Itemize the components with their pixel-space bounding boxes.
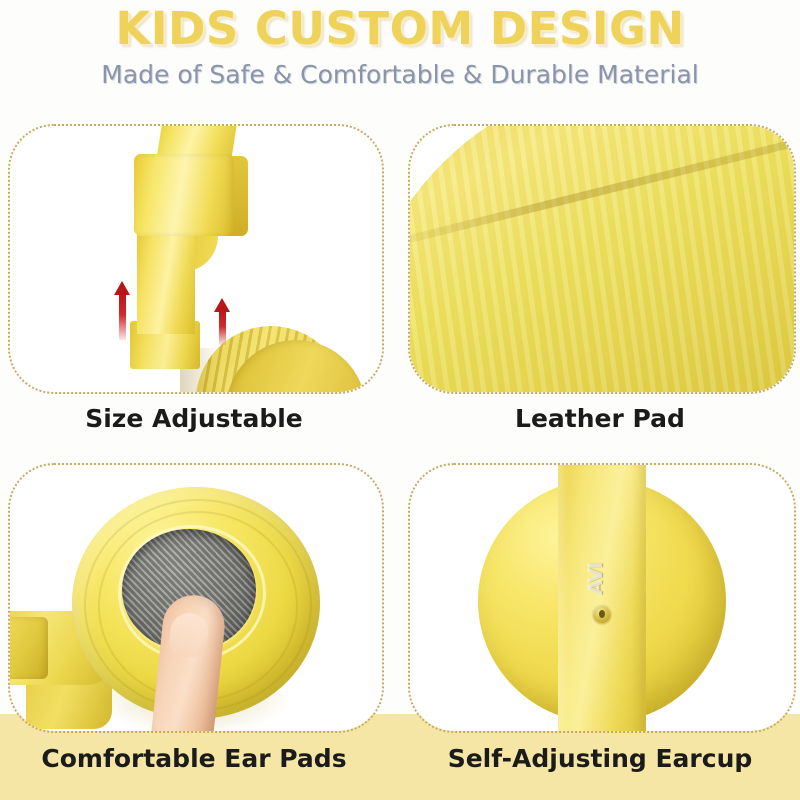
page-title: KIDS CUSTOM DESIGN	[0, 2, 800, 55]
earcup-hinge-block	[10, 617, 48, 679]
headband-closeup-illustration	[410, 126, 794, 392]
feature-panel-self-adjusting-earcup: AVI	[408, 463, 796, 733]
product-infographic: KIDS CUSTOM DESIGN Made of Safe & Comfor…	[0, 0, 800, 800]
headband-upper-pad	[410, 126, 794, 392]
caption-comfortable-ear-pads: Comfortable Ear Pads	[4, 744, 384, 773]
headband-stem-middle	[137, 230, 195, 334]
brand-badge-icon	[593, 605, 611, 623]
panel-image-earcup: AVI	[410, 465, 794, 731]
panel-image-ear-pads	[10, 465, 382, 731]
caption-leather-pad: Leather Pad	[408, 404, 792, 433]
panel-image-leather-pad	[410, 126, 794, 392]
caption-self-adjusting-earcup: Self-Adjusting Earcup	[408, 744, 792, 773]
brand-logo: AVI	[588, 561, 616, 625]
headband-slider-block	[134, 154, 234, 236]
brand-wordmark: AVI	[582, 567, 622, 595]
panel-image-size-adjustable	[10, 126, 382, 392]
feature-panel-leather-pad	[408, 124, 796, 394]
caption-size-adjustable: Size Adjustable	[8, 404, 380, 433]
page-subtitle: Made of Safe & Comfortable & Durable Mat…	[0, 60, 800, 89]
feature-panel-comfortable-ear-pads	[8, 463, 384, 733]
feature-panel-size-adjustable	[8, 124, 384, 394]
